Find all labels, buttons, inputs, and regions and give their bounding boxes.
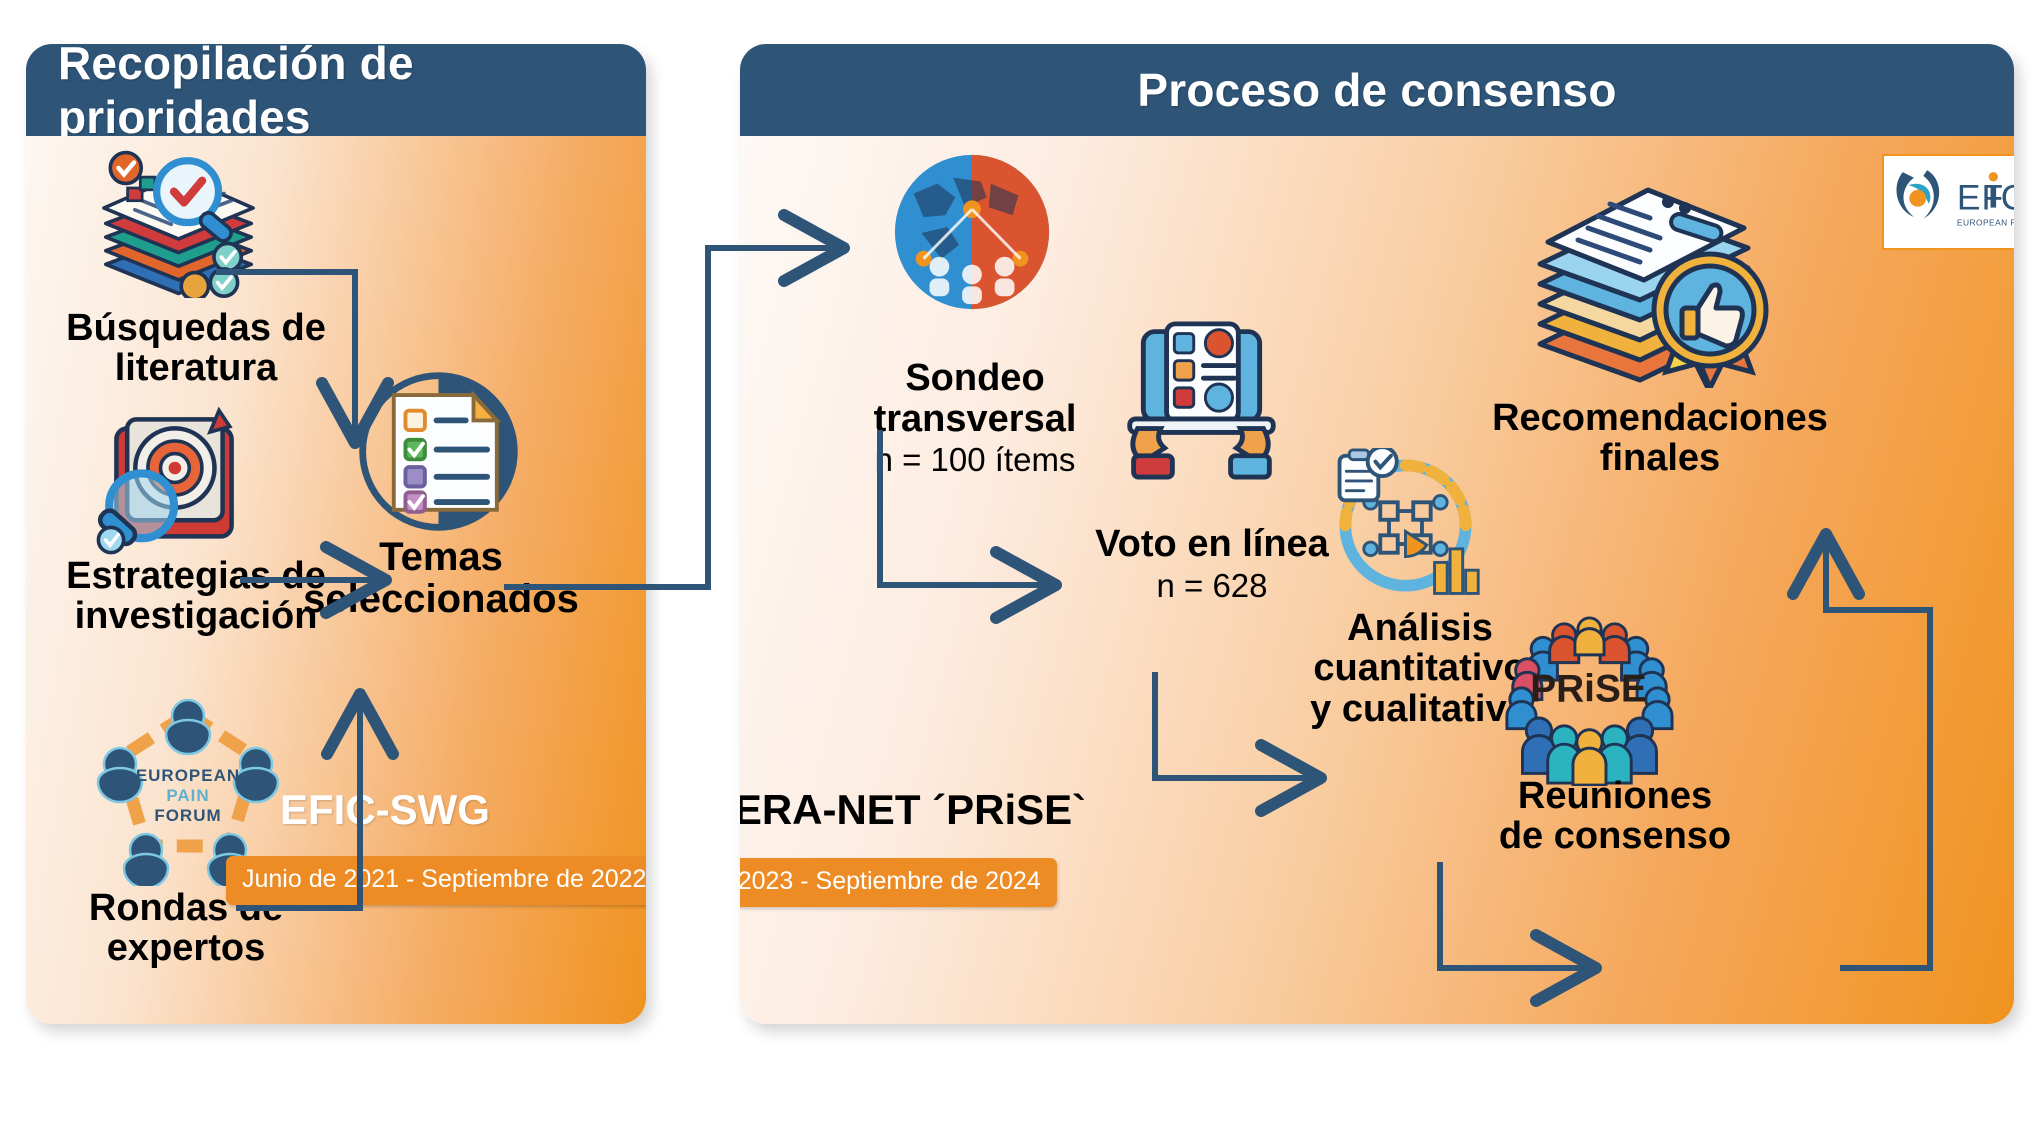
svg-text:PAIN: PAIN [166, 786, 209, 805]
svg-text:EF: EF [1957, 177, 2004, 217]
node-label-topics: Temas seleccionados [296, 536, 586, 621]
panel-left-title: Recopilación de prioridades [26, 44, 646, 144]
project-label-left: EFIC-SWG [280, 786, 490, 834]
panel-left-header: Recopilación de prioridades [26, 44, 646, 136]
documents-award-icon [1522, 158, 1782, 388]
panel-consensus-process: Proceso de consenso EF C EUROPEAN PAIN F… [740, 44, 2014, 1024]
node-label-survey-text: Sondeo transversal [874, 357, 1077, 439]
svg-text:C: C [2001, 177, 2014, 217]
panel-right-title: Proceso de consenso [1137, 63, 1616, 117]
panel-right-header: Proceso de consenso [740, 44, 2014, 136]
period-badge-left: Junio de 2021 - Septiembre de 2022 [226, 856, 646, 905]
literature-stack-icon [86, 148, 271, 298]
checklist-circle-icon [351, 364, 526, 539]
svg-text:FORUM: FORUM [154, 806, 221, 825]
node-label-literature: Búsquedas de literatura [26, 308, 366, 389]
world-map-survey-icon [888, 148, 1056, 316]
online-vote-tablet-icon [1116, 320, 1286, 480]
node-label-meetings: Reuniones de consenso [1450, 776, 1780, 857]
period-badge-right: Abril de 2023 - Septiembre de 2024 [740, 858, 1057, 907]
panel-right-body: EF C EUROPEAN PAIN FEDERATION [740, 136, 2014, 1024]
panel-left-body: Búsquedas de literatura Estrategi [26, 136, 646, 1024]
efic-logo: EF C EUROPEAN PAIN FEDERATION [1882, 154, 2014, 250]
svg-text:PRiSE: PRiSE [1530, 667, 1647, 710]
node-label-recommendations: Recomendaciones finales [1470, 398, 1850, 479]
project-label-right: ERA-NET ´PRiSE` [740, 786, 1190, 834]
data-analysis-icon [1320, 448, 1490, 608]
prise-logo-icon: PRiSE [1504, 616, 1674, 786]
svg-text:EUROPEAN: EUROPEAN [136, 766, 240, 785]
diagram-canvas: Recopilación de prioridades [0, 0, 2040, 1131]
node-label-vote-text: Voto en línea [1095, 523, 1329, 565]
node-note-survey: n = 100 ítems [830, 443, 1120, 478]
target-magnifier-icon [84, 404, 264, 559]
efic-tagline: EUROPEAN PAIN FEDERATION [1957, 217, 2014, 227]
panel-priority-collection: Recopilación de prioridades [26, 44, 646, 1024]
